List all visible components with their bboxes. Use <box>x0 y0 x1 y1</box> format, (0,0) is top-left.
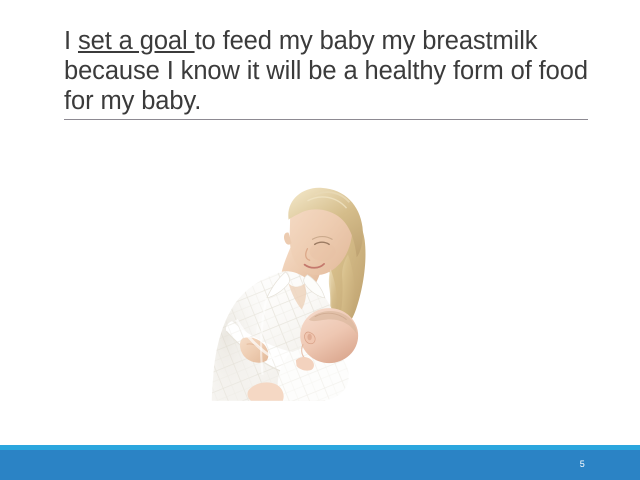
title-divider <box>64 119 588 120</box>
page-title: I set a goal to feed my baby my breastmi… <box>64 26 590 116</box>
title-text-before: I <box>64 27 78 55</box>
footer-bar <box>0 450 640 480</box>
slide-image <box>140 140 430 445</box>
page-number: 5 <box>580 459 585 469</box>
image-fade-right <box>420 140 442 445</box>
mother-breastfeeding-baby-photo <box>180 156 390 429</box>
image-fade-left <box>128 140 150 445</box>
title-text-underlined: set a goal <box>78 27 195 55</box>
title-block: I set a goal to feed my baby my breastmi… <box>64 26 590 116</box>
presentation-slide: I set a goal to feed my baby my breastmi… <box>0 0 640 480</box>
